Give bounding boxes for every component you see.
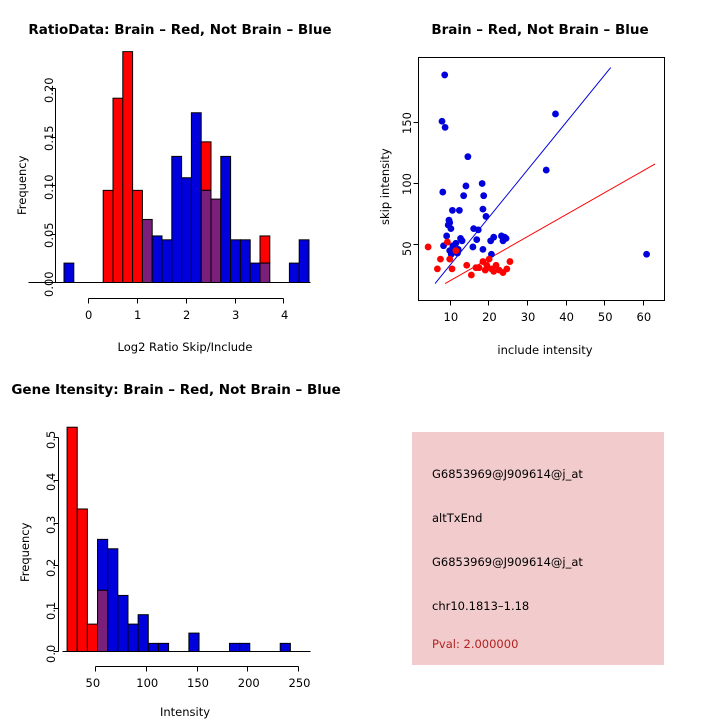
scatter-point (643, 251, 650, 258)
scatter-point (483, 213, 490, 220)
scatter-point (453, 240, 460, 247)
ratio-hist-ytick-label: 0.20 (42, 77, 56, 103)
scatter-point (449, 266, 456, 273)
gene-hist-xtick-label: 250 (289, 676, 311, 690)
ratio-hist-bar-overlap (211, 199, 221, 282)
scatter-point (439, 189, 446, 196)
figure-canvas: RatioData: Brain – Red, Not Brain – Blue… (0, 0, 720, 720)
scatter-plot (360, 0, 720, 360)
scatter-point (463, 262, 470, 269)
gene-hist-bar-overlap (98, 590, 108, 651)
gene-hist-ylabel: Frequency (18, 523, 32, 582)
scatter-ylabel: skip intensity (378, 148, 392, 225)
gene-hist-xtick-label: 150 (187, 676, 209, 690)
gene-hist-ytick-label: 0.2 (44, 559, 58, 577)
ratio-hist-bar (172, 156, 182, 282)
scatter-point (439, 118, 446, 125)
gene-hist-plot (0, 360, 360, 720)
gene-hist-xtick-label: 50 (86, 676, 101, 690)
ratio-hist-bar (123, 52, 133, 283)
scatter-xtick-label: 40 (559, 310, 574, 324)
scatter-ytick-label: 100 (400, 173, 414, 195)
scatter-point (456, 207, 463, 214)
scatter-point (468, 272, 475, 279)
scatter-xticks (451, 301, 644, 306)
info-line-probeset-id: G6853969@J909614@j_at (432, 467, 583, 481)
scatter-point (476, 264, 483, 271)
ratio-hist-xtick-label: 1 (134, 308, 141, 322)
scatter-point (447, 225, 454, 232)
gene-hist-bar (108, 549, 118, 652)
ratio-hist-xtick-label: 4 (281, 308, 288, 322)
scatter-point (444, 239, 451, 246)
gene-hist-bar (118, 595, 128, 651)
scatter-xtick-label: 30 (521, 310, 536, 324)
ratio-hist-title: RatioData: Brain – Red, Not Brain – Blue (0, 22, 360, 38)
gene-hist-bar (67, 427, 77, 651)
ratio-hist-xtick-label: 3 (232, 308, 239, 322)
gene-hist-ytick-label: 0.1 (44, 601, 58, 619)
gene-hist-bar (77, 509, 87, 652)
ratio-hist-xtick-label: 2 (183, 308, 190, 322)
scatter-ytick-label: 150 (400, 112, 414, 134)
gene-hist-bar (148, 643, 158, 651)
ratio-hist-bar (299, 240, 309, 283)
gene-hist-xlabel: Intensity (60, 705, 310, 719)
scatter-point (552, 111, 559, 118)
ratio-hist-bar (64, 263, 74, 282)
scatter-point (543, 167, 550, 174)
ratio-hist-bar-overlap (260, 263, 270, 282)
info-panel: G6853969@J909614@j_at altTxEnd G6853969@… (412, 432, 664, 665)
ratio-hist-ytick-label: 0.10 (42, 174, 56, 200)
scatter-point (480, 246, 487, 253)
info-line-locus: chr10.1813–1.18 (432, 599, 529, 613)
ratio-hist-xticks (89, 299, 284, 304)
gene-hist-title: Gene Itensity: Brain – Red, Not Brain – … (0, 382, 356, 398)
scatter-point (473, 236, 480, 243)
ratio-hist-xlabel: Log2 Ratio Skip/Include (40, 340, 330, 354)
ratio-hist-ytick-label: 0.05 (42, 222, 56, 248)
scatter-point (475, 226, 482, 233)
scatter-point (449, 207, 456, 214)
scatter-xtick-label: 60 (637, 310, 652, 324)
scatter-yticks (414, 123, 419, 245)
ratio-hist-bar (133, 190, 143, 282)
scatter-point (482, 267, 489, 274)
scatter-point (469, 244, 476, 251)
ratio-hist-bar (113, 98, 123, 282)
scatter-xtick-label: 20 (482, 310, 497, 324)
ratio-hist-bar (260, 236, 270, 263)
ratio-hist-bar (250, 263, 260, 282)
scatter-point (446, 256, 453, 263)
scatter-point (453, 247, 460, 254)
ratio-hist-ylabel: Frequency (15, 156, 29, 215)
gene-hist-ytick-label: 0.4 (44, 473, 58, 491)
scatter-point (437, 256, 444, 263)
ratio-hist-bar-overlap (142, 219, 152, 282)
scatter-point (460, 192, 467, 199)
panel-gene-histogram: Gene Itensity: Brain – Red, Not Brain – … (0, 360, 360, 720)
gene-hist-bar (189, 633, 199, 651)
gene-hist-bar (98, 539, 108, 590)
gene-hist-ytick-label: 0.3 (44, 516, 58, 534)
scatter-trend-line (435, 68, 611, 284)
ratio-hist-bar (152, 236, 162, 283)
gene-hist-bar (128, 624, 138, 651)
scatter-point (463, 183, 470, 190)
scatter-point (442, 124, 449, 131)
ratio-hist-bar (191, 113, 201, 283)
gene-hist-xtick-label: 100 (136, 676, 158, 690)
gene-hist-xticks (96, 667, 299, 672)
gene-hist-xtick-label: 200 (238, 676, 260, 690)
gene-hist-bar (158, 643, 168, 651)
scatter-point (490, 234, 497, 241)
scatter-point (503, 266, 510, 273)
scatter-point (425, 244, 432, 251)
scatter-point (480, 206, 487, 213)
scatter-plot-box (419, 58, 665, 301)
ratio-hist-bar (240, 240, 250, 283)
info-line-pval: Pval: 2.000000 (432, 637, 518, 651)
panel-ratio-histogram: RatioData: Brain – Red, Not Brain – Blue… (0, 0, 360, 360)
scatter-point (443, 233, 450, 240)
scatter-point (503, 235, 510, 242)
gene-hist-ytick-label: 0.5 (44, 430, 58, 448)
info-line-probeset-id-2: G6853969@J909614@j_at (432, 555, 583, 569)
gene-hist-bar (240, 643, 250, 651)
ratio-hist-bar (221, 156, 231, 282)
scatter-point (441, 72, 448, 79)
scatter-point (479, 180, 486, 187)
gene-hist-bar (138, 615, 148, 652)
gene-hist-bar (280, 643, 290, 651)
scatter-xtick-label: 50 (598, 310, 613, 324)
scatter-point (480, 192, 487, 199)
scatter-point (434, 266, 441, 273)
ratio-hist-bar (162, 240, 172, 283)
ratio-hist-bar-overlap (201, 190, 211, 282)
ratio-hist-bar (201, 142, 211, 191)
scatter-xtick-label: 10 (444, 310, 459, 324)
gene-hist-bar (229, 643, 239, 651)
scatter-ytick-label: 50 (400, 241, 414, 256)
scatter-point (486, 256, 493, 263)
scatter-point (459, 237, 466, 244)
ratio-hist-ytick-label: 0.00 (42, 271, 56, 297)
gene-hist-ytick-label: 0.0 (44, 644, 58, 662)
ratio-hist-bar (182, 178, 192, 283)
scatter-title: Brain – Red, Not Brain – Blue (360, 22, 720, 38)
ratio-hist-xtick-label: 0 (85, 308, 92, 322)
panel-scatter: Brain – Red, Not Brain – Blue 1020304050… (360, 0, 720, 360)
scatter-point (507, 258, 514, 265)
ratio-hist-bar (103, 190, 113, 282)
gene-hist-bar (87, 624, 97, 651)
scatter-point (464, 153, 471, 160)
ratio-hist-ytick-label: 0.15 (42, 125, 56, 151)
scatter-xlabel: include intensity (420, 343, 670, 357)
ratio-hist-bar (289, 263, 299, 282)
ratio-hist-bar (231, 240, 241, 283)
info-line-event-type: altTxEnd (432, 511, 482, 525)
